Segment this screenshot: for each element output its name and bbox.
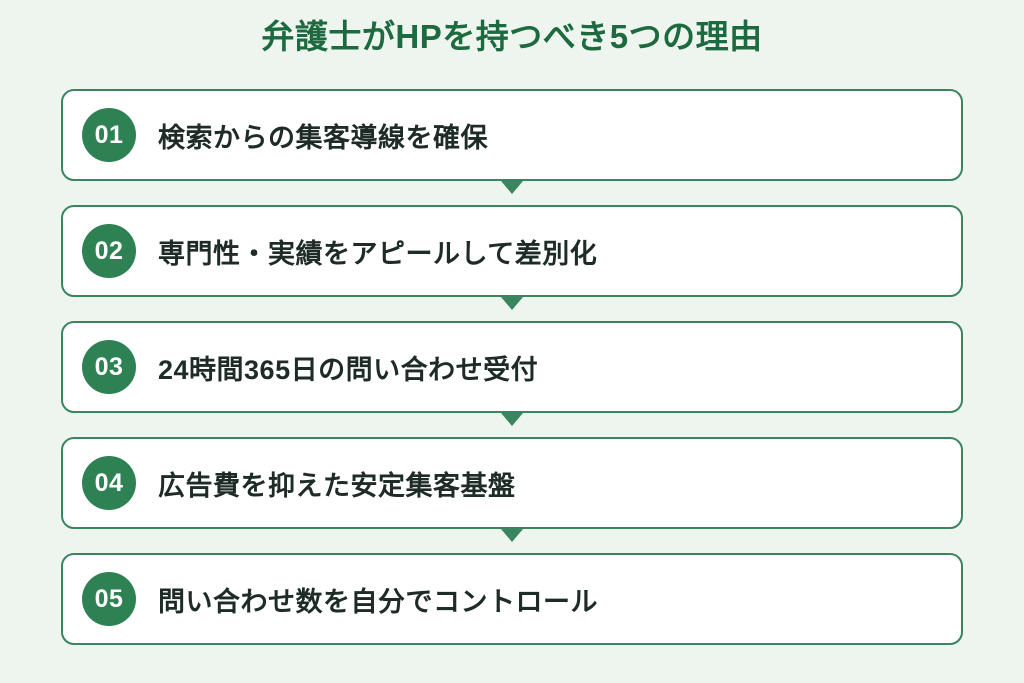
step-connector	[61, 181, 963, 205]
step-connector	[61, 529, 963, 553]
step-number-badge: 05	[82, 572, 136, 626]
step-card[interactable]: 01 検索からの集客導線を確保	[61, 89, 963, 181]
infographic-page: 弁護士がHPを持つべき5つの理由 01 検索からの集客導線を確保 02 専門性・…	[0, 0, 1024, 683]
step-label: 検索からの集客導線を確保	[158, 116, 488, 155]
step-number-badge: 02	[82, 224, 136, 278]
step-label: 専門性・実績をアピールして差別化	[158, 232, 597, 271]
step-connector	[61, 413, 963, 437]
step-list: 01 検索からの集客導線を確保 02 専門性・実績をアピールして差別化 03 2…	[61, 89, 963, 645]
step-number-badge: 03	[82, 340, 136, 394]
triangle-down-icon	[501, 529, 523, 542]
step-card[interactable]: 03 24時間365日の問い合わせ受付	[61, 321, 963, 413]
step-card[interactable]: 05 問い合わせ数を自分でコントロール	[61, 553, 963, 645]
step-item-03: 03 24時間365日の問い合わせ受付	[61, 321, 963, 437]
step-card[interactable]: 02 専門性・実績をアピールして差別化	[61, 205, 963, 297]
step-card[interactable]: 04 広告費を抑えた安定集客基盤	[61, 437, 963, 529]
step-number-badge: 01	[82, 108, 136, 162]
step-label: 24時間365日の問い合わせ受付	[158, 348, 538, 387]
page-title: 弁護士がHPを持つべき5つの理由	[0, 16, 1024, 59]
step-item-04: 04 広告費を抑えた安定集客基盤	[61, 437, 963, 553]
step-item-02: 02 専門性・実績をアピールして差別化	[61, 205, 963, 321]
step-label: 問い合わせ数を自分でコントロール	[158, 580, 598, 619]
step-number-badge: 04	[82, 456, 136, 510]
step-item-01: 01 検索からの集客導線を確保	[61, 89, 963, 205]
step-label: 広告費を抑えた安定集客基盤	[158, 464, 516, 503]
triangle-down-icon	[501, 413, 523, 426]
step-item-05: 05 問い合わせ数を自分でコントロール	[61, 553, 963, 645]
triangle-down-icon	[501, 181, 523, 194]
triangle-down-icon	[501, 297, 523, 310]
step-connector	[61, 297, 963, 321]
